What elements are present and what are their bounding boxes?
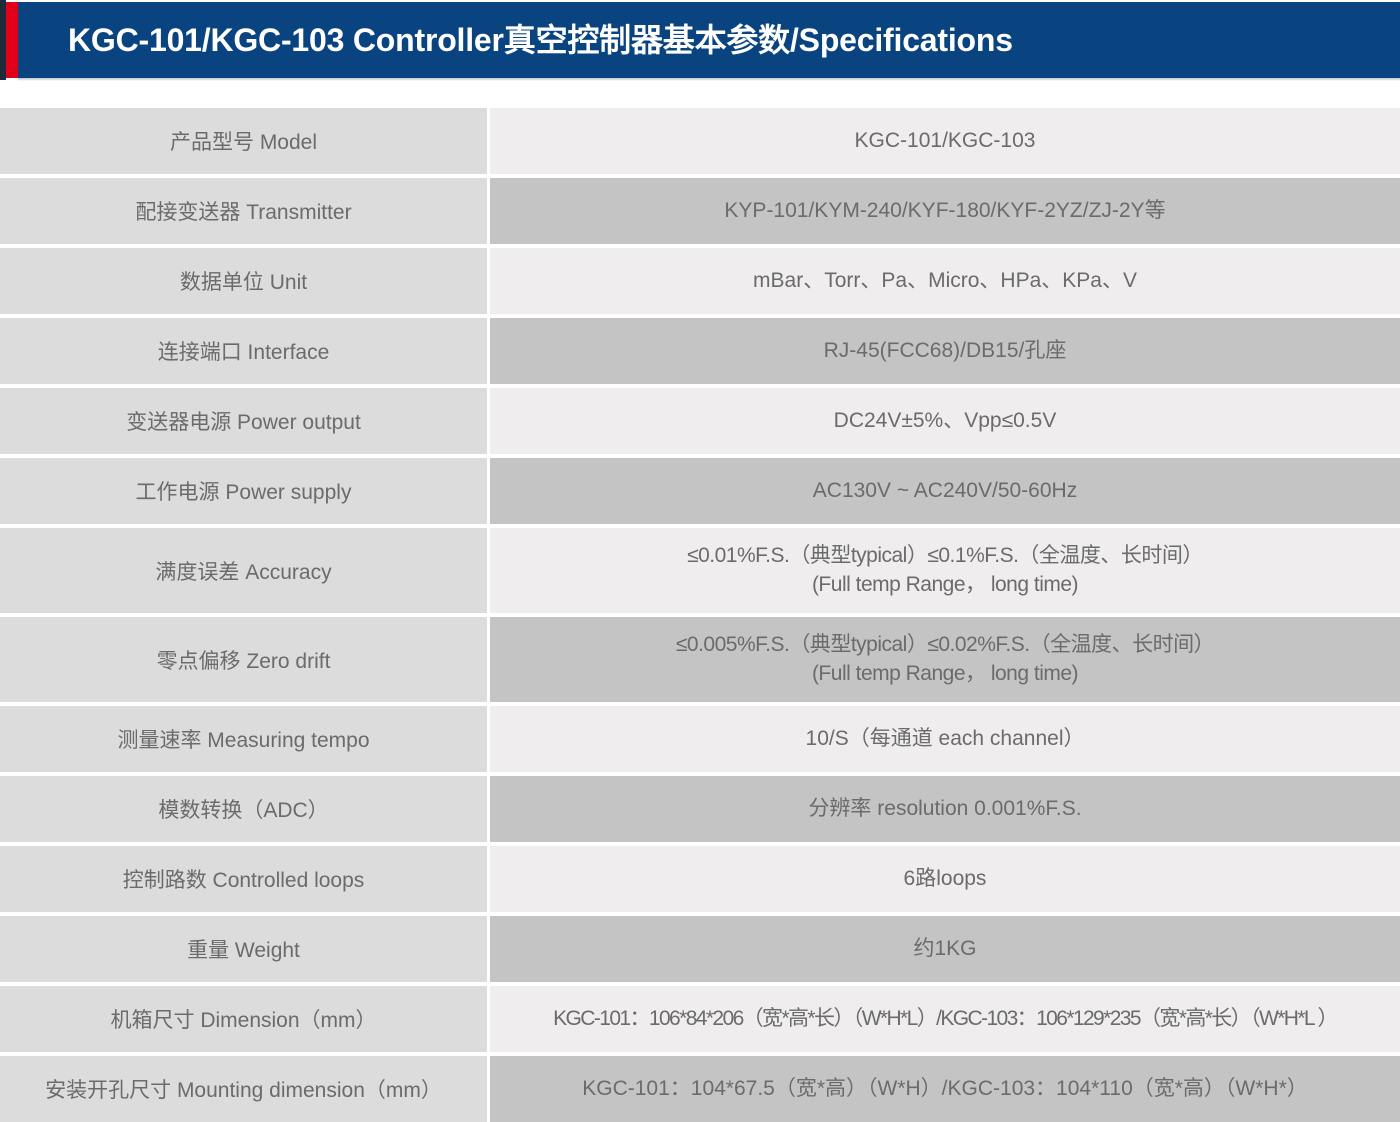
spec-label-cell: 控制路数 Controlled loops (0, 846, 487, 912)
table-row: 满度误差 Accuracy≤0.01%F.S.（典型typical）≤0.1%F… (0, 528, 1400, 613)
page-header-banner: KGC-101/KGC-103 Controller真空控制器基本参数/Spec… (0, 0, 1400, 82)
banner-red-accent-bar (6, 2, 18, 78)
specifications-table: 产品型号 ModelKGC-101/KGC-103配接变送器 Transmitt… (0, 82, 1400, 1122)
spec-value-line: AC130V ~ AC240V/50-60Hz (813, 477, 1077, 506)
spec-value-line: 分辨率 resolution 0.001%F.S. (808, 795, 1081, 824)
spec-value-line: KYP-101/KYM-240/KYF-180/KYF-2YZ/ZJ-2Y等 (724, 197, 1165, 226)
spec-value-cell: KGC-101：104*67.5（宽*高）（W*H）/KGC-103：104*1… (490, 1056, 1400, 1122)
spec-value-line: DC24V±5%、Vpp≤0.5V (834, 407, 1057, 436)
spec-value-cell: 约1KG (490, 916, 1400, 982)
spec-value-cell: ≤0.005%F.S.（典型typical）≤0.02%F.S.（全温度、长时间… (490, 617, 1400, 702)
spec-value-cell: KGC-101：106*84*206（宽*高*长）（W*H*L）/KGC-103… (490, 986, 1400, 1052)
table-row: 数据单位 UnitmBar、Torr、Pa、Micro、HPa、KPa、V (0, 248, 1400, 314)
spec-value-line: mBar、Torr、Pa、Micro、HPa、KPa、V (753, 267, 1137, 296)
spec-value-line: (Full temp Range， long time) (812, 660, 1078, 689)
spec-value-cell: KYP-101/KYM-240/KYF-180/KYF-2YZ/ZJ-2Y等 (490, 178, 1400, 244)
page-title: KGC-101/KGC-103 Controller真空控制器基本参数/Spec… (68, 2, 1013, 78)
spec-value-line: 约1KG (913, 935, 976, 964)
spec-label-cell: 测量速率 Measuring tempo (0, 706, 487, 772)
spec-label-cell: 重量 Weight (0, 916, 487, 982)
table-row: 产品型号 ModelKGC-101/KGC-103 (0, 108, 1400, 174)
spec-value-cell: KGC-101/KGC-103 (490, 108, 1400, 174)
spec-label-cell: 模数转换（ADC） (0, 776, 487, 842)
spec-label-cell: 连接端口 Interface (0, 318, 487, 384)
table-row: 工作电源 Power supplyAC130V ~ AC240V/50-60Hz (0, 458, 1400, 524)
table-row: 安装开孔尺寸 Mounting dimension（mm）KGC-101：104… (0, 1056, 1400, 1122)
table-row: 重量 Weight约1KG (0, 916, 1400, 982)
spec-value-line: KGC-101/KGC-103 (855, 127, 1036, 156)
banner-background: KGC-101/KGC-103 Controller真空控制器基本参数/Spec… (18, 2, 1400, 78)
table-row: 机箱尺寸 Dimension（mm）KGC-101：106*84*206（宽*高… (0, 986, 1400, 1052)
banner-drop-shadow (18, 78, 1400, 81)
spec-value-cell: 分辨率 resolution 0.001%F.S. (490, 776, 1400, 842)
spec-value-line: (Full temp Range， long time) (812, 571, 1078, 600)
spec-value-line: ≤0.005%F.S.（典型typical）≤0.02%F.S.（全温度、长时间… (676, 631, 1214, 660)
spec-label-cell: 安装开孔尺寸 Mounting dimension（mm） (0, 1056, 487, 1122)
spec-value-line: 6路loops (904, 865, 987, 894)
spec-value-cell: mBar、Torr、Pa、Micro、HPa、KPa、V (490, 248, 1400, 314)
spec-label-cell: 零点偏移 Zero drift (0, 617, 487, 702)
spec-label-cell: 产品型号 Model (0, 108, 487, 174)
table-row: 控制路数 Controlled loops6路loops (0, 846, 1400, 912)
spec-value-line: RJ-45(FCC68)/DB15/孔座 (824, 337, 1067, 366)
spec-label-cell: 配接变送器 Transmitter (0, 178, 487, 244)
spec-value-cell: DC24V±5%、Vpp≤0.5V (490, 388, 1400, 454)
spec-value-line: KGC-101：104*67.5（宽*高）（W*H）/KGC-103：104*1… (582, 1075, 1308, 1104)
spec-value-cell: 6路loops (490, 846, 1400, 912)
table-row: 测量速率 Measuring tempo10/S（每通道 each channe… (0, 706, 1400, 772)
spec-label-cell: 变送器电源 Power output (0, 388, 487, 454)
spec-value-cell: AC130V ~ AC240V/50-60Hz (490, 458, 1400, 524)
spec-label-cell: 数据单位 Unit (0, 248, 487, 314)
table-row: 模数转换（ADC）分辨率 resolution 0.001%F.S. (0, 776, 1400, 842)
table-row: 配接变送器 TransmitterKYP-101/KYM-240/KYF-180… (0, 178, 1400, 244)
spec-value-line: ≤0.01%F.S.（典型typical）≤0.1%F.S.（全温度、长时间） (687, 542, 1203, 571)
spec-value-cell: 10/S（每通道 each channel） (490, 706, 1400, 772)
spec-value-cell: ≤0.01%F.S.（典型typical）≤0.1%F.S.（全温度、长时间）(… (490, 528, 1400, 613)
spec-label-cell: 工作电源 Power supply (0, 458, 487, 524)
spec-value-line: KGC-101：106*84*206（宽*高*长）（W*H*L）/KGC-103… (553, 1005, 1337, 1034)
spec-value-cell: RJ-45(FCC68)/DB15/孔座 (490, 318, 1400, 384)
table-row: 变送器电源 Power outputDC24V±5%、Vpp≤0.5V (0, 388, 1400, 454)
table-row: 零点偏移 Zero drift≤0.005%F.S.（典型typical）≤0.… (0, 617, 1400, 702)
spec-label-cell: 满度误差 Accuracy (0, 528, 487, 613)
spec-value-line: 10/S（每通道 each channel） (806, 725, 1085, 754)
table-row: 连接端口 InterfaceRJ-45(FCC68)/DB15/孔座 (0, 318, 1400, 384)
spec-label-cell: 机箱尺寸 Dimension（mm） (0, 986, 487, 1052)
